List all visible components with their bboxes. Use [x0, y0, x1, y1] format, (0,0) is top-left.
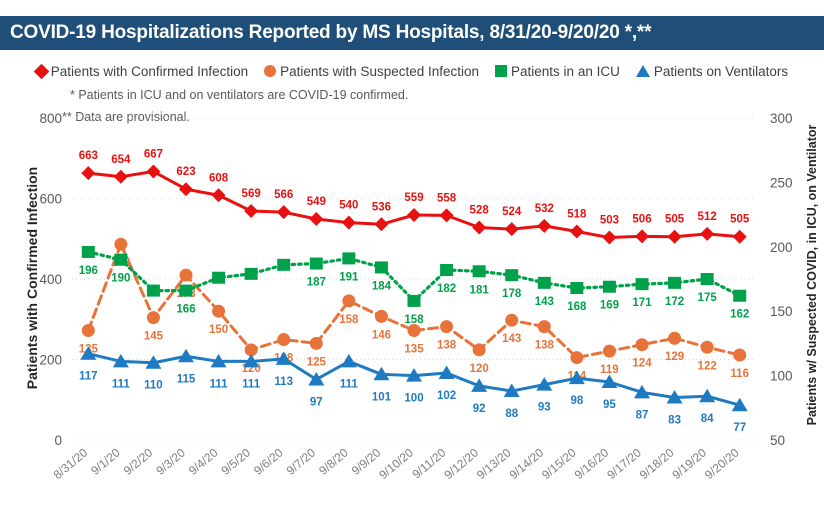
x-axis-tick: 9/18/20	[637, 445, 677, 482]
chart-container: COVID-19 Hospitalizations Reported by MS…	[0, 0, 824, 517]
data-point[interactable]	[603, 281, 616, 293]
series-diamond: 6636546676236085695665495405365595585285…	[79, 149, 750, 245]
data-label: 168	[567, 301, 587, 313]
data-label: 125	[307, 356, 327, 368]
x-axis-tick: 9/1/20	[88, 445, 123, 477]
y-axis-tick-right: 100	[770, 369, 793, 384]
data-label: 623	[176, 166, 195, 178]
data-label: 120	[470, 363, 489, 375]
data-label: 158	[339, 314, 359, 326]
y-axis-tick-left: 800	[39, 111, 62, 126]
data-label: 178	[502, 288, 522, 300]
data-label: 117	[79, 371, 98, 383]
data-label: 124	[632, 358, 652, 370]
data-label: 536	[372, 201, 391, 213]
data-label: 116	[730, 368, 749, 380]
data-point[interactable]	[636, 338, 649, 351]
data-label: 92	[473, 403, 486, 415]
x-axis-tick: 9/4/20	[186, 445, 221, 477]
y-axis-tick-left: 0	[54, 433, 62, 448]
data-point[interactable]	[147, 311, 160, 324]
data-label: 138	[535, 340, 555, 352]
data-label: 100	[404, 393, 423, 405]
data-label: 506	[632, 213, 651, 225]
data-label: 83	[668, 414, 681, 426]
data-point[interactable]	[212, 188, 226, 202]
data-label: 512	[698, 211, 717, 223]
x-axis-tick: 9/11/20	[410, 445, 449, 481]
data-point[interactable]	[408, 295, 421, 307]
data-point[interactable]	[440, 208, 454, 222]
x-axis-tick: 9/15/20	[539, 445, 579, 482]
data-point[interactable]	[408, 324, 421, 337]
data-point[interactable]	[538, 320, 551, 333]
data-label: 505	[730, 214, 750, 226]
data-point[interactable]	[277, 333, 290, 346]
data-point[interactable]	[178, 349, 194, 363]
y-axis-tick-left: 200	[39, 353, 62, 368]
data-point[interactable]	[733, 348, 746, 361]
data-point[interactable]	[668, 332, 681, 345]
data-point[interactable]	[277, 205, 291, 219]
data-point[interactable]	[473, 265, 486, 277]
data-label: 608	[209, 172, 229, 184]
y-axis-tick-right: 50	[770, 433, 785, 448]
data-point[interactable]	[244, 204, 258, 218]
data-point[interactable]	[733, 290, 746, 302]
data-label: 143	[502, 333, 521, 345]
data-label: 111	[340, 378, 359, 390]
data-label: 528	[470, 204, 490, 216]
data-point[interactable]	[146, 165, 160, 179]
data-point[interactable]	[375, 310, 388, 323]
x-axis-tick: 9/17/20	[604, 445, 644, 482]
data-point[interactable]	[538, 277, 551, 289]
data-label: 111	[210, 378, 229, 390]
data-label: 182	[437, 283, 456, 295]
data-label: 566	[274, 189, 293, 201]
data-label: 115	[177, 373, 196, 385]
x-axis-tick: 9/13/20	[474, 445, 514, 482]
data-label: 559	[404, 192, 423, 204]
x-axis-tick: 9/3/20	[153, 445, 188, 477]
data-point[interactable]	[701, 273, 714, 285]
data-point[interactable]	[341, 354, 357, 368]
chart-plot-area: 0200400600800501001502002503008/31/209/1…	[0, 0, 824, 517]
data-point[interactable]	[570, 351, 583, 364]
series-line	[88, 172, 739, 238]
data-point[interactable]	[180, 269, 193, 282]
data-label: 138	[437, 340, 457, 352]
x-axis-tick: 9/2/20	[121, 445, 156, 477]
data-point[interactable]	[733, 230, 747, 244]
data-label: 101	[372, 391, 392, 403]
data-point[interactable]	[603, 345, 616, 358]
data-point[interactable]	[407, 208, 421, 222]
data-label: 122	[698, 360, 717, 372]
data-point[interactable]	[245, 268, 258, 280]
data-label: 184	[372, 280, 392, 292]
data-label: 87	[636, 409, 649, 421]
data-point[interactable]	[570, 225, 584, 239]
data-label: 110	[144, 380, 163, 392]
data-label: 549	[307, 196, 326, 208]
data-label: 145	[144, 331, 164, 343]
x-axis-tick: 9/19/20	[669, 445, 709, 482]
data-label: 146	[372, 329, 391, 341]
y-axis-tick-right: 300	[770, 111, 793, 126]
data-label: 143	[535, 296, 554, 308]
data-label: 97	[310, 396, 323, 408]
data-point[interactable]	[82, 246, 95, 258]
data-label: 196	[79, 265, 98, 277]
data-label: 98	[570, 395, 583, 407]
data-label: 190	[111, 273, 130, 285]
data-point[interactable]	[180, 285, 193, 297]
x-axis-tick: 9/6/20	[251, 445, 286, 477]
data-label: 169	[600, 300, 619, 312]
data-point[interactable]	[505, 314, 518, 327]
data-point[interactable]	[310, 337, 323, 350]
data-point[interactable]	[472, 220, 486, 234]
data-label: 166	[176, 304, 195, 316]
data-point[interactable]	[309, 212, 323, 226]
data-label: 113	[274, 376, 293, 388]
data-point[interactable]	[537, 219, 551, 233]
data-label: 129	[665, 351, 684, 363]
data-point[interactable]	[308, 372, 324, 386]
data-label: 77	[733, 422, 746, 434]
data-point[interactable]	[570, 282, 583, 294]
data-point[interactable]	[505, 222, 519, 236]
data-point[interactable]	[342, 216, 356, 230]
data-label: 84	[701, 413, 714, 425]
data-label: 102	[437, 390, 456, 402]
x-axis-tick: 9/10/20	[376, 445, 416, 482]
data-point[interactable]	[212, 272, 225, 284]
y-axis-tick-left: 600	[39, 192, 62, 207]
data-point[interactable]	[700, 227, 714, 241]
x-axis-tick: 9/8/20	[316, 445, 351, 477]
data-point[interactable]	[668, 277, 681, 289]
data-label: 505	[665, 214, 685, 226]
data-point[interactable]	[114, 238, 127, 251]
x-axis-tick: 9/5/20	[219, 445, 254, 477]
data-label: 524	[502, 206, 522, 218]
data-point[interactable]	[114, 254, 127, 266]
data-point[interactable]	[147, 285, 160, 297]
data-point[interactable]	[82, 324, 95, 337]
data-label: 503	[600, 215, 619, 227]
data-label: 532	[535, 203, 554, 215]
data-point[interactable]	[310, 258, 323, 270]
data-point[interactable]	[342, 252, 355, 264]
data-label: 540	[339, 200, 358, 212]
data-point[interactable]	[374, 217, 388, 231]
data-point[interactable]	[342, 294, 355, 307]
data-label: 187	[307, 277, 326, 289]
data-point[interactable]	[179, 182, 193, 196]
y-axis-tick-right: 250	[770, 175, 793, 190]
data-label: 191	[339, 271, 359, 283]
data-label: 88	[505, 408, 518, 420]
data-label: 171	[632, 297, 652, 309]
data-point[interactable]	[440, 264, 453, 276]
x-axis-tick: 9/12/20	[441, 445, 481, 482]
data-point[interactable]	[668, 230, 682, 244]
data-point[interactable]	[114, 170, 128, 184]
data-point[interactable]	[636, 278, 649, 290]
x-axis-tick: 9/14/20	[507, 445, 547, 482]
data-point[interactable]	[602, 231, 616, 245]
data-label: 569	[242, 188, 261, 200]
x-axis-tick: 9/7/20	[284, 445, 319, 477]
data-point[interactable]	[505, 269, 518, 281]
data-label: 111	[112, 378, 131, 390]
data-label: 181	[470, 284, 490, 296]
x-axis-tick: 8/31/20	[51, 445, 91, 482]
y-axis-tick-right: 200	[770, 240, 793, 255]
data-label: 158	[404, 314, 424, 326]
data-label: 558	[437, 192, 457, 204]
data-point[interactable]	[375, 261, 388, 273]
data-label: 119	[600, 364, 619, 376]
data-label: 162	[730, 309, 749, 321]
data-label: 663	[79, 150, 98, 162]
x-axis-tick: 9/20/20	[702, 445, 742, 482]
y-axis-tick-right: 150	[770, 304, 793, 319]
data-label: 667	[144, 149, 163, 161]
data-label: 95	[603, 399, 616, 411]
data-label: 111	[242, 378, 261, 390]
data-point[interactable]	[277, 259, 290, 271]
data-label: 150	[209, 324, 228, 336]
data-point[interactable]	[81, 166, 95, 180]
data-point[interactable]	[212, 305, 225, 318]
data-point[interactable]	[635, 229, 649, 243]
data-label: 654	[111, 154, 131, 166]
data-label: 175	[698, 292, 718, 304]
data-point[interactable]	[473, 343, 486, 356]
data-point[interactable]	[701, 341, 714, 354]
data-label: 93	[538, 402, 551, 414]
x-axis-tick: 9/16/20	[572, 445, 612, 482]
data-label: 518	[567, 209, 587, 221]
data-label: 172	[665, 296, 684, 308]
data-point[interactable]	[440, 320, 453, 333]
y-axis-tick-left: 400	[39, 272, 62, 287]
data-label: 135	[404, 344, 424, 356]
